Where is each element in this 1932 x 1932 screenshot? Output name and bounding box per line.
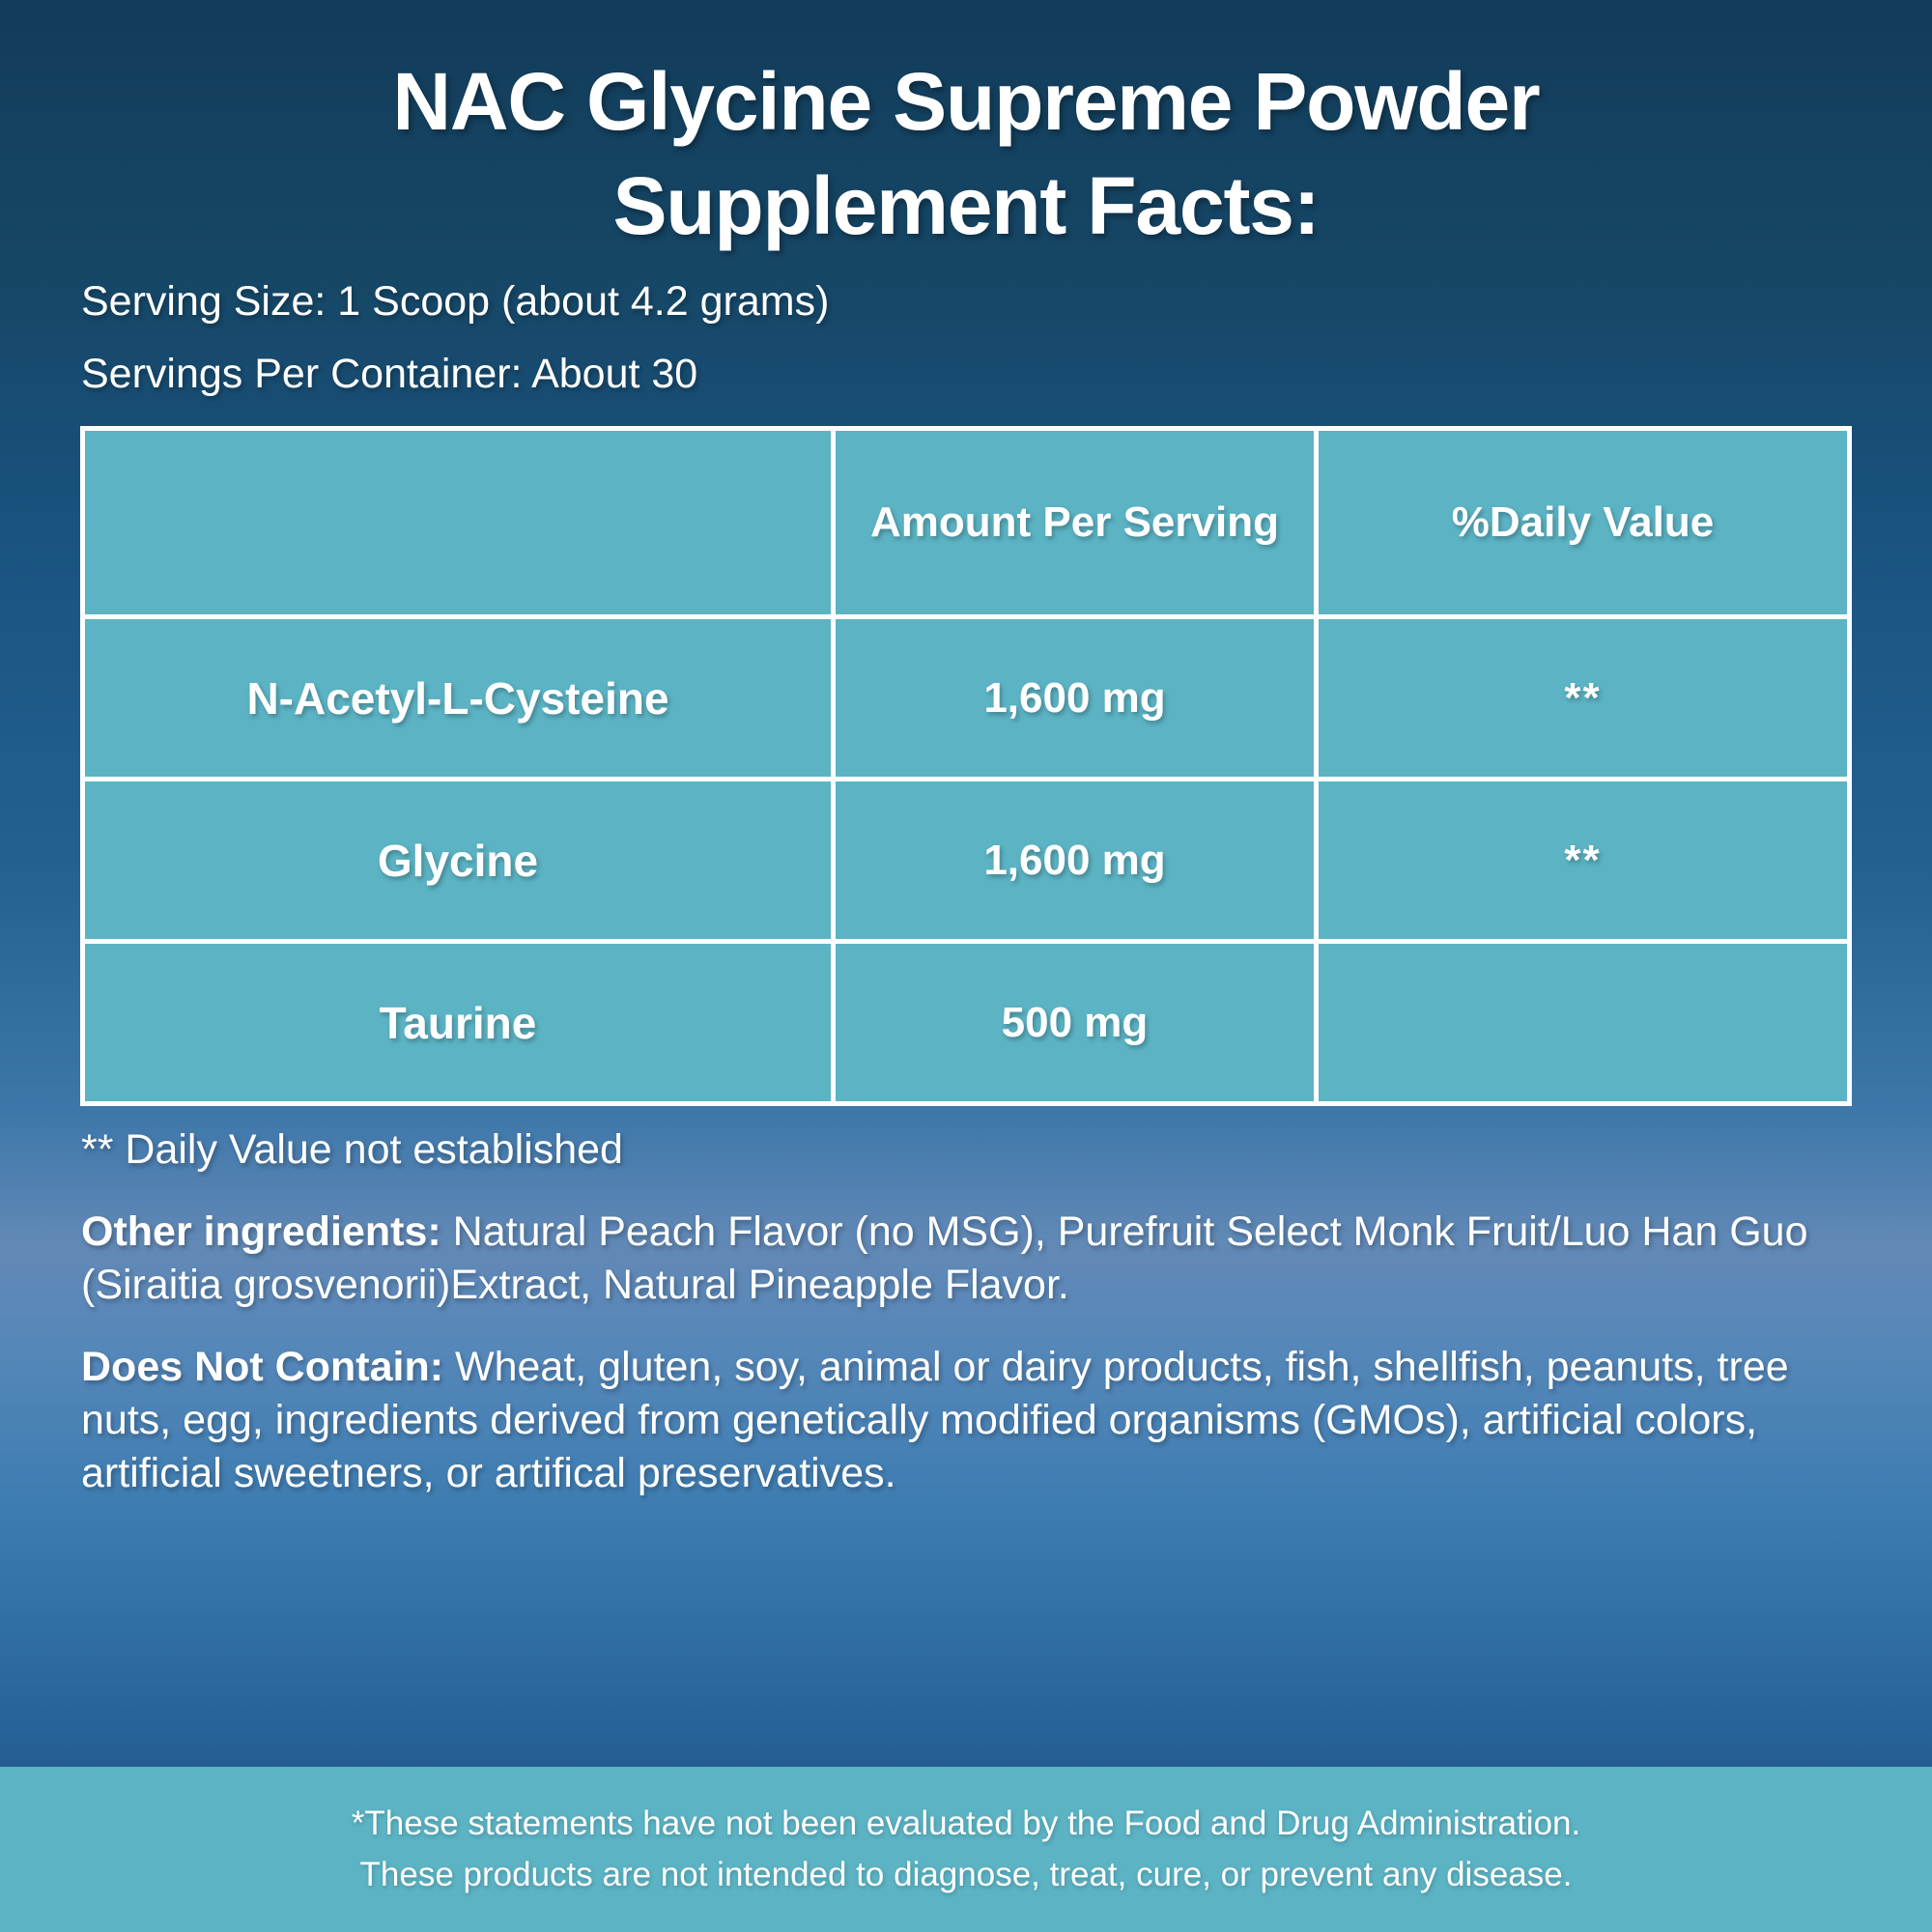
title-line-2: Supplement Facts: bbox=[106, 155, 1826, 259]
table-row: Glycine 1,600 mg ** bbox=[83, 780, 1850, 942]
cell-nutrient-name: N-Acetyl-L-Cysteine bbox=[83, 617, 834, 780]
does-not-contain-label: Does Not Contain: bbox=[81, 1344, 443, 1390]
table-row: N-Acetyl-L-Cysteine 1,600 mg ** bbox=[83, 617, 1850, 780]
daily-value-footnote: ** Daily Value not established bbox=[81, 1127, 1851, 1173]
cell-amount-per-serving: 1,600 mg bbox=[834, 617, 1317, 780]
cell-nutrient-name: Taurine bbox=[83, 942, 834, 1104]
fda-disclaimer-band: *These statements have not been evaluate… bbox=[0, 1767, 1932, 1932]
servings-per-container-text: Servings Per Container: About 30 bbox=[81, 354, 1932, 395]
other-ingredients-label: Other ingredients: bbox=[81, 1208, 441, 1255]
cell-amount-per-serving: 1,600 mg bbox=[834, 780, 1317, 942]
page-title: NAC Glycine Supreme Powder Supplement Fa… bbox=[0, 0, 1932, 258]
cell-nutrient-name: Glycine bbox=[83, 780, 834, 942]
cell-amount-per-serving: 500 mg bbox=[834, 942, 1317, 1104]
supplement-facts-table: Amount Per Serving %Daily Value N-Acetyl… bbox=[80, 426, 1852, 1106]
disclaimer-line-2: These products are not intended to diagn… bbox=[322, 1850, 1611, 1901]
table-header-row: Amount Per Serving %Daily Value bbox=[83, 429, 1850, 617]
header-cell-daily-value: %Daily Value bbox=[1317, 429, 1850, 617]
header-cell-nutrient bbox=[83, 429, 834, 617]
cell-daily-value: ** bbox=[1317, 780, 1850, 942]
header-cell-amount-per-serving: Amount Per Serving bbox=[834, 429, 1317, 617]
other-ingredients-paragraph: Other ingredients: Natural Peach Flavor … bbox=[81, 1206, 1851, 1312]
supplement-facts-label: NAC Glycine Supreme Powder Supplement Fa… bbox=[0, 0, 1932, 1932]
serving-size-text: Serving Size: 1 Scoop (about 4.2 grams) bbox=[81, 281, 1932, 323]
does-not-contain-paragraph: Does Not Contain: Wheat, gluten, soy, an… bbox=[81, 1341, 1851, 1500]
disclaimer-line-1: *These statements have not been evaluate… bbox=[313, 1799, 1619, 1850]
serving-info: Serving Size: 1 Scoop (about 4.2 grams) … bbox=[0, 258, 1932, 395]
table-row: Taurine 500 mg bbox=[83, 942, 1850, 1104]
cell-daily-value bbox=[1317, 942, 1850, 1104]
cell-daily-value: ** bbox=[1317, 617, 1850, 780]
supplement-facts-table-wrap: Amount Per Serving %Daily Value N-Acetyl… bbox=[80, 426, 1852, 1106]
title-line-1: NAC Glycine Supreme Powder bbox=[106, 50, 1826, 155]
notes-section: ** Daily Value not established Other ing… bbox=[0, 1106, 1932, 1500]
